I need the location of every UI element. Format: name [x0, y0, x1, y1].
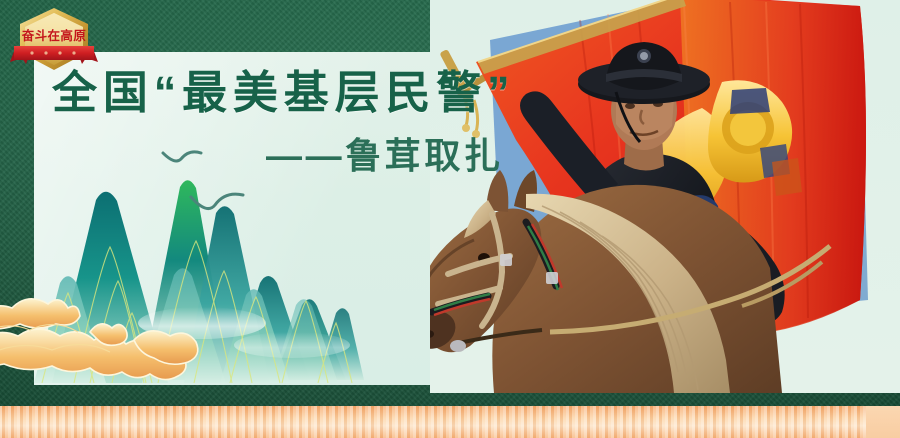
- bottom-accent-bar: [0, 406, 900, 438]
- badge-text: 奋斗在高原: [21, 28, 87, 43]
- campaign-badge: 奋斗在高原: [8, 6, 100, 76]
- page-title: 全国“最美基层民警”: [52, 70, 516, 115]
- auspicious-clouds-ornament: [0, 278, 209, 398]
- bottom-bar-end-cap: [866, 406, 900, 438]
- officer-on-horseback-photo: [430, 0, 900, 393]
- poster-root: 全国“最美基层民警” ——鲁茸取扎: [0, 0, 900, 438]
- page-subtitle: ——鲁茸取扎: [266, 138, 504, 174]
